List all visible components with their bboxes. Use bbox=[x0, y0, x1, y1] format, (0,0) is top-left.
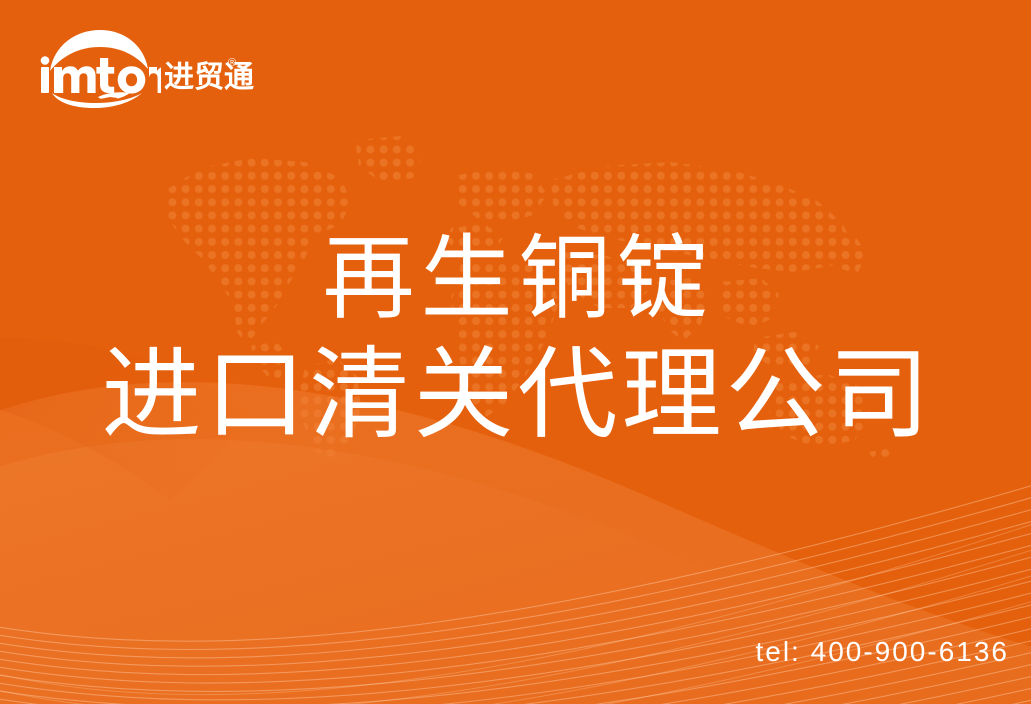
telephone-text: tel: 400-900-6136 bbox=[755, 636, 1009, 668]
promo-banner: 进贸通 ® 再生铜锭 进口清关代理公司 tel: 400-900-6136 bbox=[0, 0, 1031, 704]
headline: 再生铜锭 进口清关代理公司 bbox=[0, 228, 1031, 451]
logo-chinese-name: 进贸通 bbox=[164, 63, 254, 93]
registered-mark-icon: ® bbox=[228, 58, 236, 69]
globe-swoosh-icon bbox=[36, 27, 161, 109]
headline-line-1: 再生铜锭 bbox=[0, 228, 1031, 331]
headline-line-2: 进口清关代理公司 bbox=[0, 339, 1031, 451]
brand-logo[interactable]: 进贸通 ® bbox=[36, 27, 246, 109]
line-strands bbox=[0, 474, 1031, 704]
